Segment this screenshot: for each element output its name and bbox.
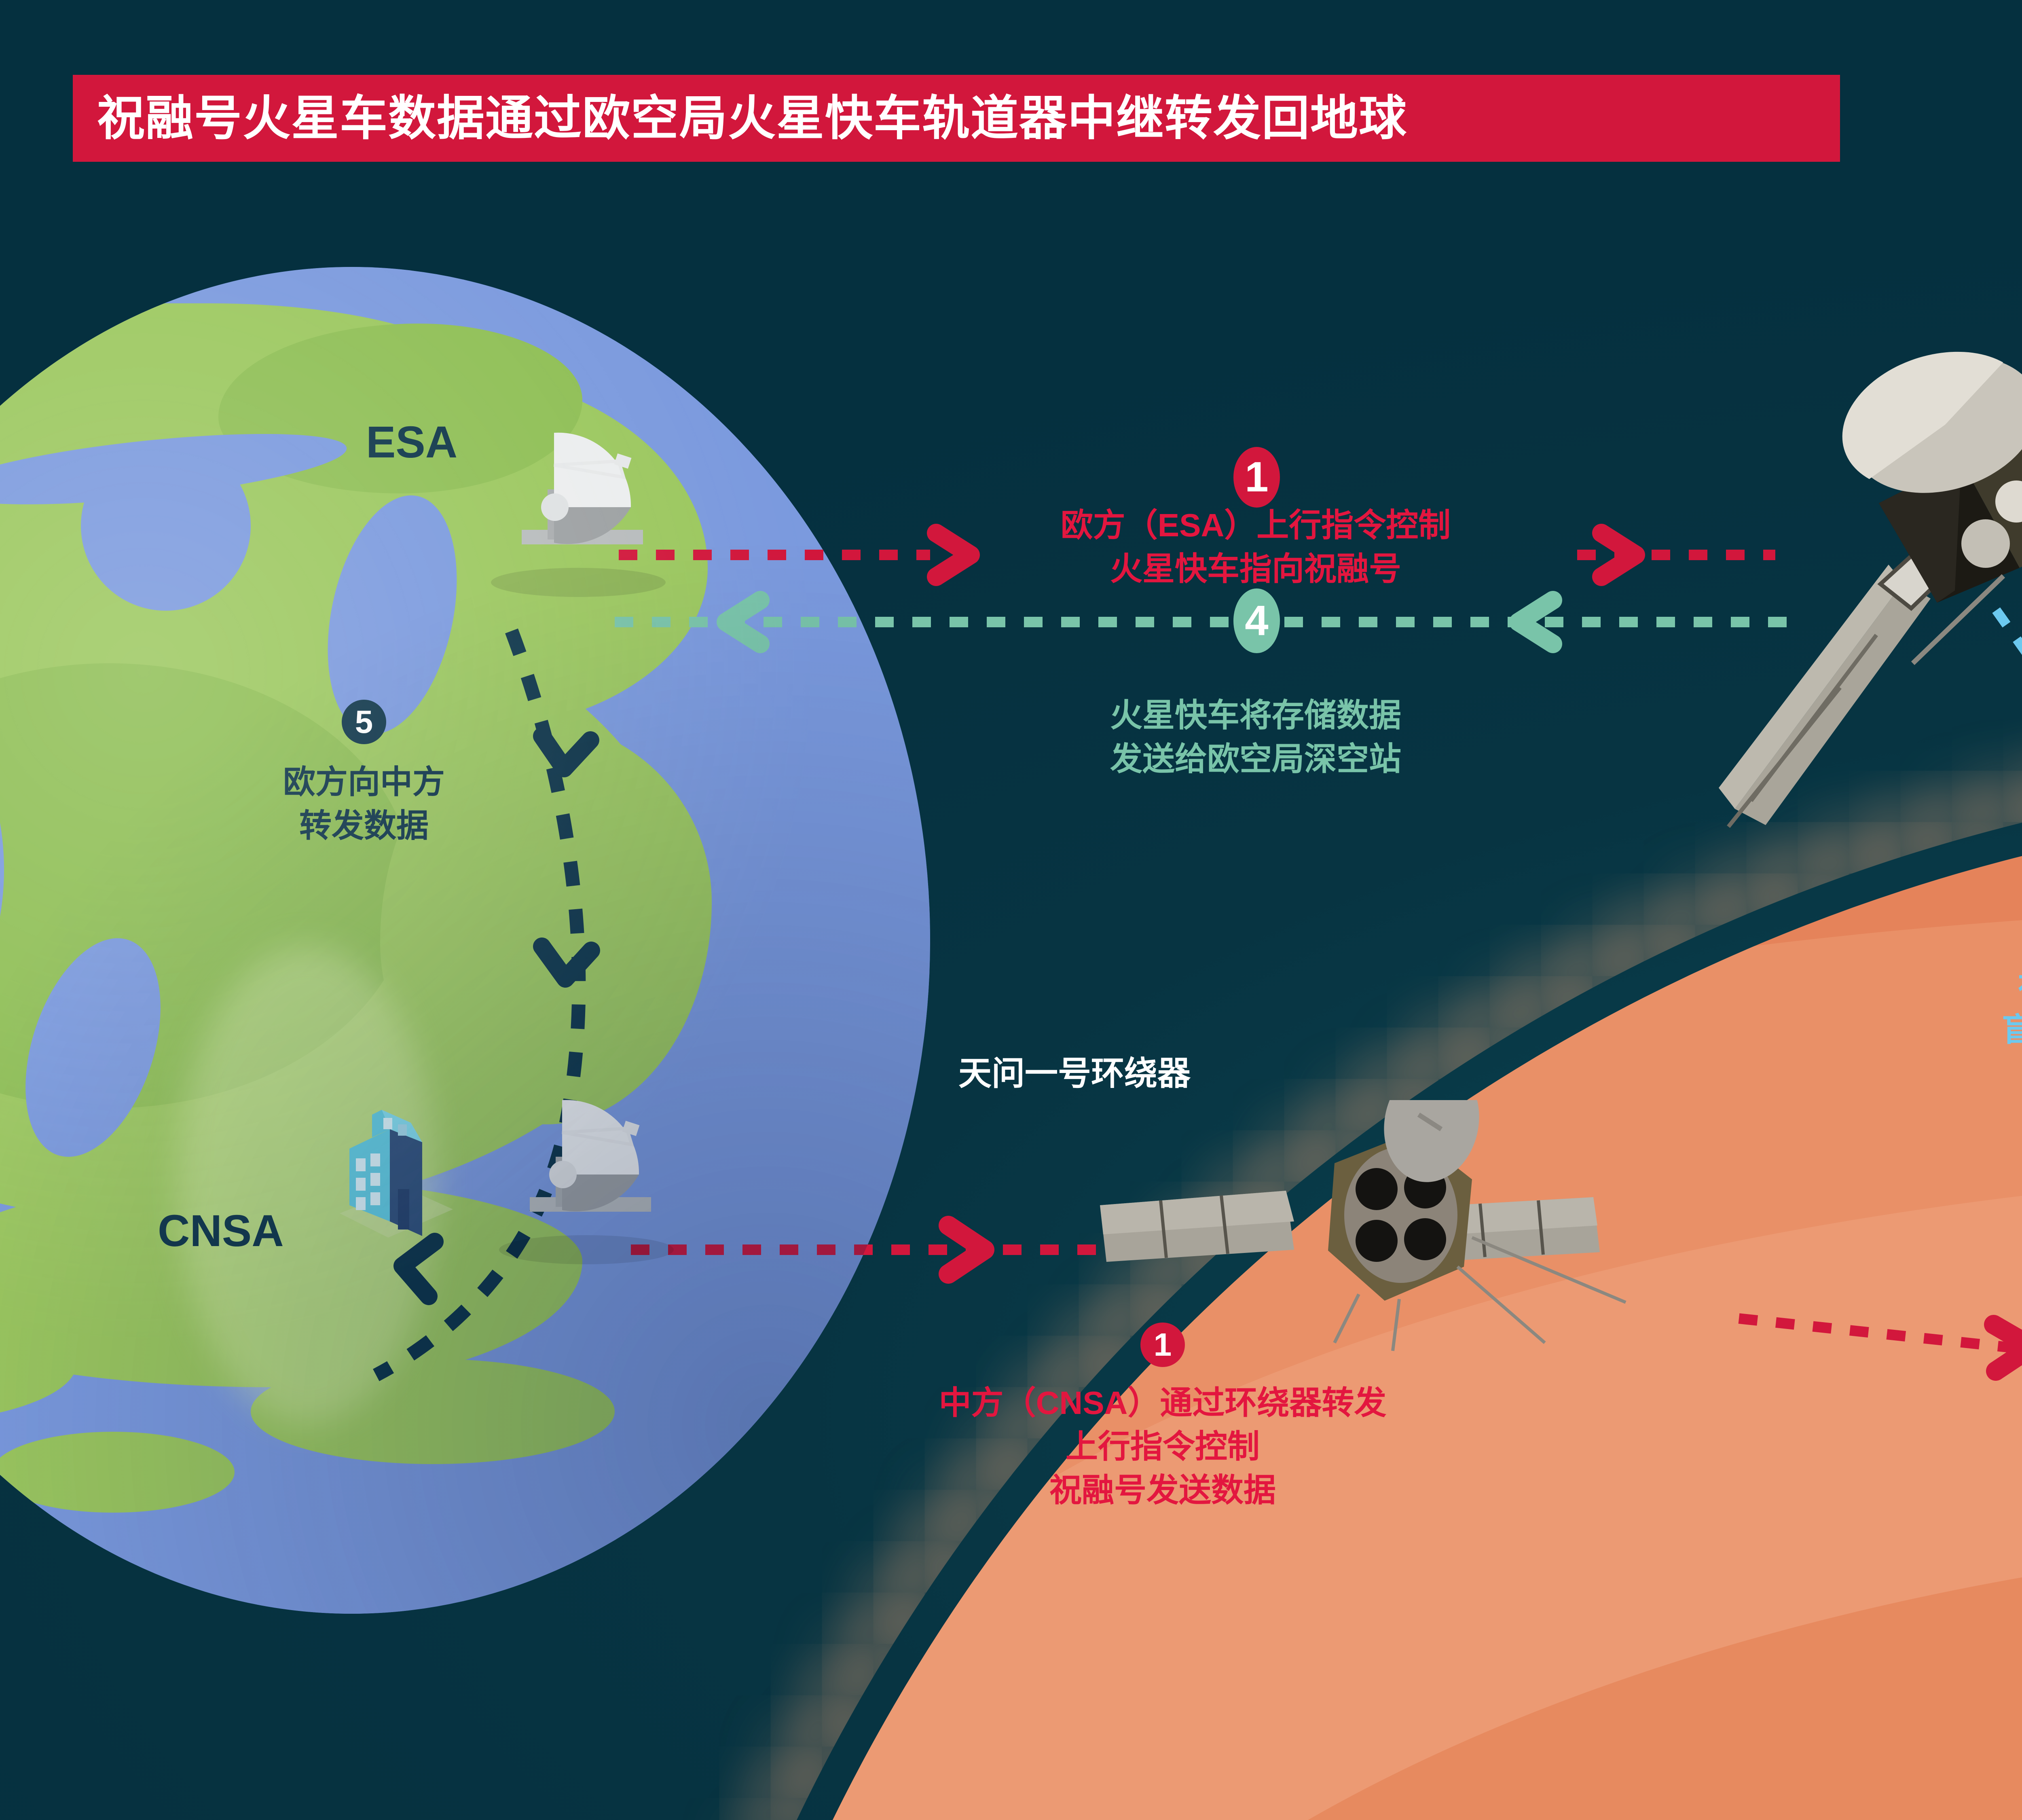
step-1-line-2: 火星快车指向祝融号 — [1061, 547, 1451, 591]
step-badge-4: 4 — [1233, 588, 1280, 653]
step-1-line-1: 欧方（ESA）上行指令控制 — [1061, 504, 1451, 547]
zhurong-blind-send-annotation: 祝融号 盲发数据 — [2002, 965, 2022, 1052]
blind-send-line-2: 盲发数据 — [2002, 1008, 2022, 1052]
tianwen-1-orbiter-spacecraft — [1092, 1100, 1779, 1424]
step-4-line-1: 火星快车将存储数据 — [1110, 694, 1401, 737]
step-badge-1-cnsa: 1 — [1140, 1323, 1185, 1367]
infographic-canvas: ESA CNSA — [0, 0, 2022, 1820]
step-1-cnsa-line-1: 中方（CNSA）通过环绕器转发 — [939, 1381, 1387, 1425]
step-4-line-2: 发送给欧空局深空站 — [1110, 737, 1401, 781]
step-badge-1: 1 — [1233, 447, 1280, 508]
step-1-cnsa-line-2: 上行指令控制 — [939, 1425, 1387, 1469]
mars-express-spacecraft — [1719, 210, 2022, 979]
step-1-cnsa-line-3: 祝融号发送数据 — [939, 1469, 1387, 1512]
tianwen-orbiter-label: 天问一号环绕器 — [958, 1052, 1191, 1096]
step-1-text: 欧方（ESA）上行指令控制 火星快车指向祝融号 — [1061, 504, 1451, 591]
step-1-cnsa-text: 中方（CNSA）通过环绕器转发 上行指令控制 祝融号发送数据 — [939, 1381, 1387, 1512]
step-4-text: 火星快车将存储数据 发送给欧空局深空站 — [1110, 694, 1401, 781]
page-title: 祝融号火星车数据通过欧空局火星快车轨道器中继转发回地球 — [73, 95, 1407, 142]
title-banner: 祝融号火星车数据通过欧空局火星快车轨道器中继转发回地球 — [73, 75, 1840, 162]
blind-send-line-1: 祝融号 — [2002, 965, 2022, 1008]
